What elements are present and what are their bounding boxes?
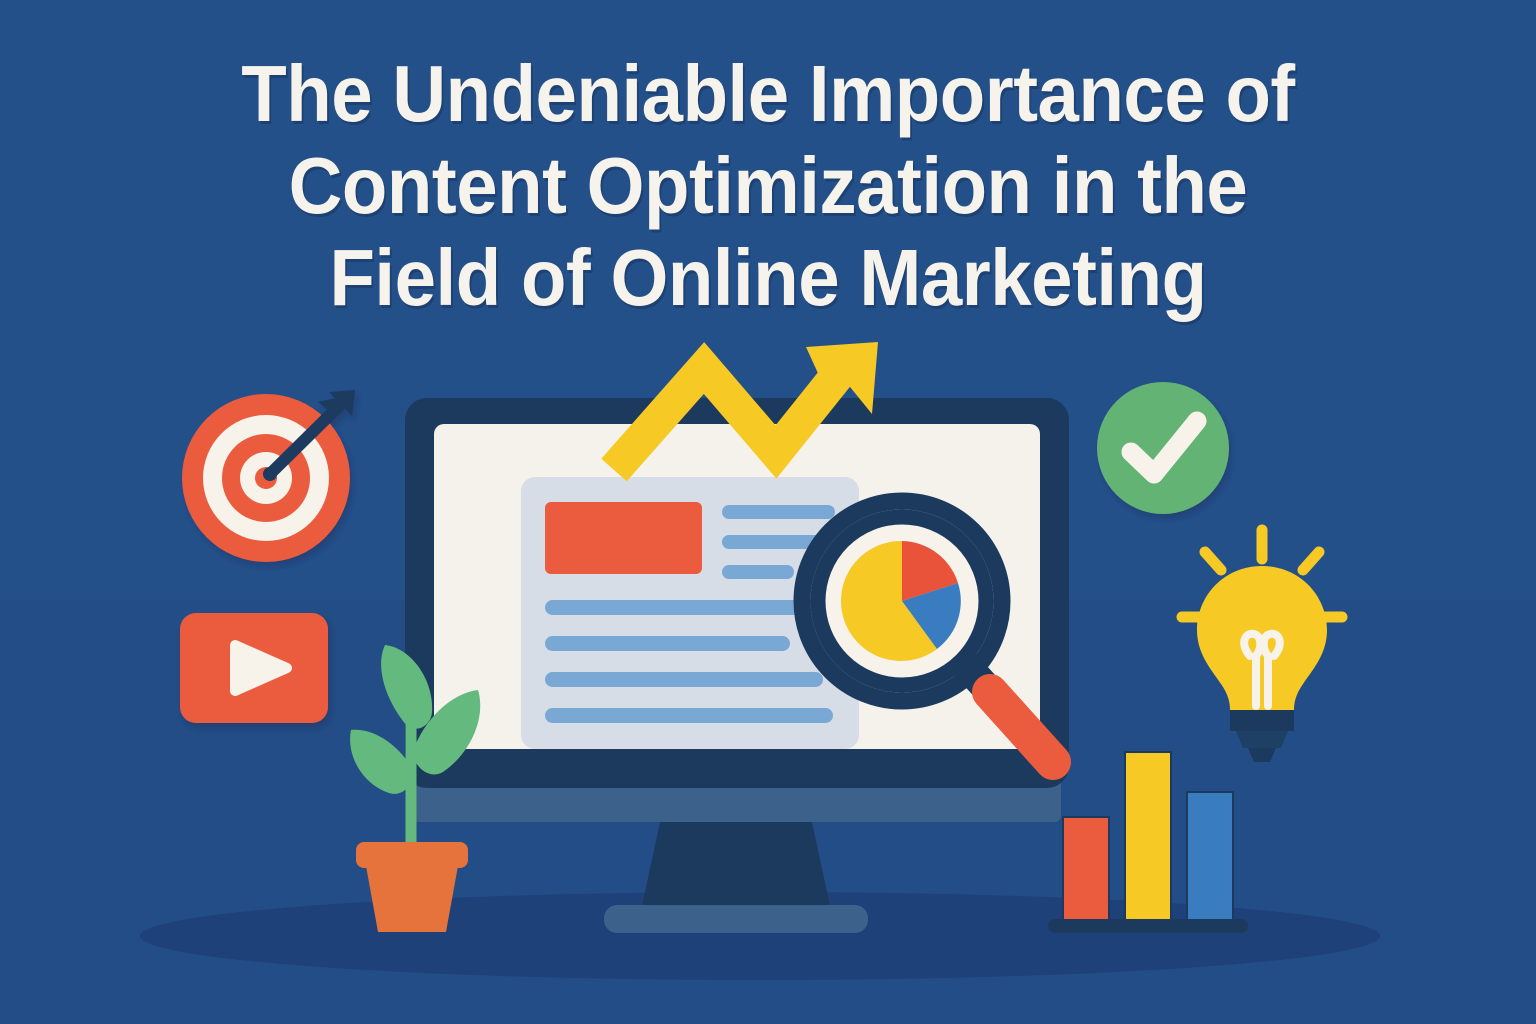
document-body-line — [545, 708, 833, 723]
target-icon — [182, 390, 355, 562]
lightbulb-ray-upper-left — [1205, 552, 1221, 570]
video-play-icon — [180, 613, 328, 723]
checkmark-icon — [1097, 382, 1229, 514]
lightbulb-collar — [1230, 710, 1294, 731]
lightbulb-tip — [1248, 748, 1276, 762]
lightbulb-screw — [1236, 731, 1288, 748]
document-body-line — [545, 600, 835, 615]
monitor-stand — [640, 822, 832, 915]
bar-chart-bar-3 — [1187, 792, 1233, 922]
plant-leaf-left — [350, 730, 411, 794]
document-side-line — [722, 505, 835, 519]
lightbulb-ray-upper-right — [1303, 552, 1319, 570]
plant-pot-body — [366, 866, 458, 932]
document-image-block — [545, 502, 702, 574]
document-body-line — [545, 672, 823, 687]
lightbulb-icon — [1182, 530, 1342, 762]
bar-chart-bar-1 — [1063, 817, 1109, 922]
bar-chart-baseline — [1048, 919, 1248, 933]
bar-chart-icon — [1048, 752, 1248, 933]
bar-chart-bar-2 — [1125, 752, 1171, 922]
pie-chart-icon — [841, 541, 961, 661]
monitor-base — [604, 905, 868, 933]
banner-canvas: The Undeniable Importance of Content Opt… — [0, 0, 1536, 1024]
document-body-line — [545, 636, 790, 651]
plant-pot-rim — [356, 842, 468, 868]
document-side-line — [722, 565, 794, 579]
illustration-layer — [0, 0, 1536, 1024]
